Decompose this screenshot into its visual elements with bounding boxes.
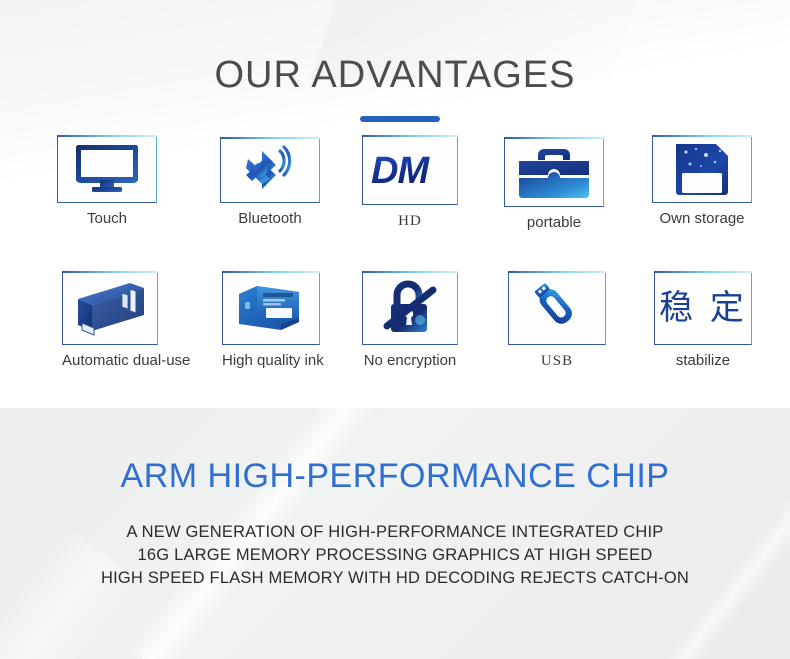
- advantage-label: Own storage: [652, 210, 752, 228]
- advantage-item-own-storage[interactable]: Own storage: [652, 135, 752, 228]
- icon-frame: [57, 135, 157, 203]
- ink-cartridge-icon: [223, 272, 319, 344]
- chip-description-line: 16G LARGE MEMORY PROCESSING GRAPHICS AT …: [0, 544, 790, 567]
- advantage-item-no-encryption[interactable]: No encryption: [362, 271, 458, 370]
- briefcase-icon: [505, 138, 603, 206]
- advantage-item-automatic-dual-use[interactable]: Automatic dual-use: [62, 271, 158, 370]
- icon-frame: [508, 271, 606, 345]
- advantage-label: Automatic dual-use: [62, 352, 158, 370]
- chip-description-line: HIGH SPEED FLASH MEMORY WITH HD DECODING…: [0, 567, 790, 590]
- advantage-label: HD: [362, 212, 458, 230]
- advantage-label: stabilize: [654, 352, 752, 370]
- chip-title: ARM HIGH-PERFORMANCE CHIP: [0, 455, 790, 497]
- chip-description-line: A NEW GENERATION OF HIGH-PERFORMANCE INT…: [0, 521, 790, 544]
- icon-frame: [652, 135, 752, 203]
- advantages-page: OUR ADVANTAGES: [0, 0, 790, 659]
- dm-logo-icon: DM: [363, 136, 457, 204]
- floppy-disk-icon: [653, 136, 751, 202]
- monitor-icon: [58, 136, 156, 202]
- advantage-label: Touch: [57, 210, 157, 228]
- advantage-label: No encryption: [362, 352, 458, 370]
- icon-frame: [362, 271, 458, 345]
- advantage-item-portable[interactable]: portable: [504, 137, 604, 232]
- open-padlock-slash-icon: [363, 272, 457, 344]
- advantage-label: Bluetooth: [220, 210, 320, 228]
- icon-frame: [222, 271, 320, 345]
- icon-frame: 稳 定: [654, 271, 752, 345]
- advantage-item-high-quality-ink[interactable]: High quality ink: [222, 271, 320, 370]
- usb-drive-icon: [509, 272, 605, 344]
- icon-frame: [504, 137, 604, 207]
- bluetooth-icon: [221, 138, 319, 202]
- advantage-label: portable: [504, 214, 604, 232]
- duplex-feeder-icon: [63, 272, 157, 344]
- icon-frame: [220, 137, 320, 203]
- chinese-stable-text: 稳 定: [659, 288, 747, 328]
- svg-text:DM: DM: [371, 150, 430, 192]
- advantage-item-hd[interactable]: DM HD: [362, 135, 458, 230]
- chinese-stable-icon: 稳 定: [655, 272, 751, 344]
- advantage-item-usb[interactable]: USB: [508, 271, 606, 370]
- advantages-grid: Touch: [0, 0, 790, 408]
- advantage-label: USB: [508, 352, 606, 370]
- advantages-section: OUR ADVANTAGES: [0, 0, 790, 408]
- advantage-item-touch[interactable]: Touch: [57, 135, 157, 228]
- advantage-item-bluetooth[interactable]: Bluetooth: [220, 137, 320, 228]
- icon-frame: [62, 271, 158, 345]
- advantage-item-stabilize[interactable]: 稳 定 stabilize: [654, 271, 752, 370]
- icon-frame: DM: [362, 135, 458, 205]
- advantage-label: High quality ink: [222, 352, 320, 370]
- chip-description: A NEW GENERATION OF HIGH-PERFORMANCE INT…: [0, 521, 790, 590]
